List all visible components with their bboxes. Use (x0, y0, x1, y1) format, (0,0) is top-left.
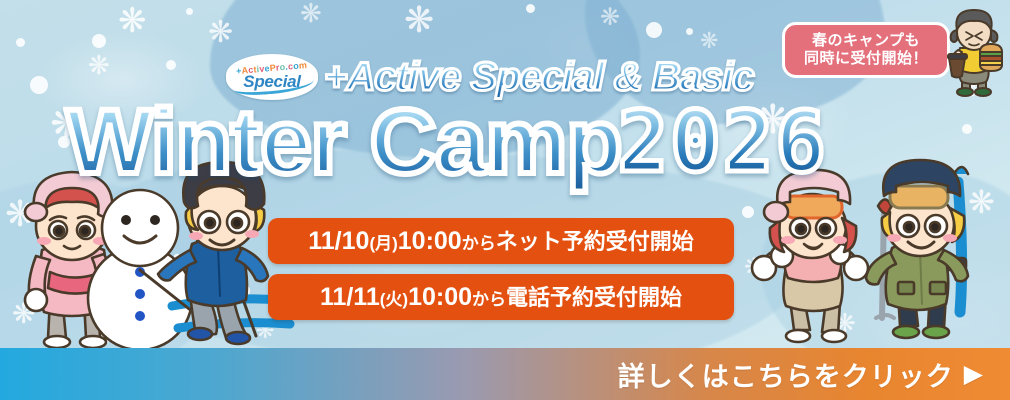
date-bars: 11/10(月)10:00からネット予約受付開始 11/11(火)10:00から… (268, 218, 734, 330)
snowflake-icon: ❋ (92, 326, 112, 350)
date-bar-net-reservation[interactable]: 11/10(月)10:00からネット予約受付開始 (268, 218, 734, 264)
burger-mascot (944, 4, 1004, 100)
snowflake-icon: ❋ (834, 310, 856, 336)
date-bar-text: 11/11(火)10:00から電話予約受付開始 (320, 285, 682, 310)
snow-dot (166, 60, 176, 70)
snow-dot (686, 28, 693, 35)
snow-dot (526, 4, 535, 13)
snow-dot (16, 38, 25, 47)
snow-dot (962, 124, 972, 134)
boy-green-jacket-skis (866, 160, 968, 338)
snow-dot (186, 8, 193, 15)
snowflake-icon: ❋ (150, 216, 172, 242)
connector-text: から (472, 290, 506, 309)
snow-dot (92, 34, 106, 48)
cta-label: 詳しくはこちらをクリック (618, 355, 954, 394)
bubble-line-2: 同時に受付開始！ (804, 50, 928, 68)
connector-text: から (462, 234, 496, 253)
snowflake-icon: ❋ (12, 300, 35, 328)
bubble-line-1: 春のキャンプも (812, 32, 920, 50)
snowflake-icon: ❋ (700, 30, 718, 52)
date-value: 11/11 (320, 283, 380, 311)
date-value: 11/10 (308, 227, 369, 255)
date-bar-phone-reservation[interactable]: 11/11(火)10:00から電話予約受付開始 (268, 274, 734, 320)
snow-dot (742, 206, 754, 218)
snow-dot (236, 284, 250, 298)
girl-goggles-snowballs (752, 170, 868, 342)
snow-dot (248, 196, 256, 204)
snowflake-icon: ❋ (600, 6, 620, 30)
cta-text-group: 詳しくはこちらをクリック ▶ (618, 355, 984, 394)
title-year: 2026 (618, 100, 828, 184)
snowflake-icon: ❋ (88, 52, 110, 78)
snowflake-icon: ❋ (118, 4, 147, 38)
snow-dot (646, 22, 662, 38)
snowman (88, 190, 192, 350)
girl-pink-coat (25, 172, 115, 348)
snow-dot (910, 214, 919, 223)
arrow-right-icon: ▶ (964, 362, 984, 387)
time-value: 10:00 (408, 283, 472, 311)
winter-camp-banner[interactable]: ❋ ❋ ❋ ❋ ❋ ❋ ❋ ❋ ❋ ❋ ❋ ❋ ❋ ❋ ❋ ❋ ❋ ❋ ❋ ❋ (0, 0, 1010, 400)
snow-dot (880, 286, 888, 294)
spring-camp-notice-bubble[interactable]: 春のキャンプも 同時に受付開始！ (782, 22, 950, 78)
snowflake-icon: ❋ (404, 2, 434, 38)
snowflake-icon: ❋ (5, 196, 35, 232)
snowflake-icon: ❋ (930, 320, 948, 342)
snowflake-icon: ❋ (208, 18, 233, 48)
weekday-value: (火) (380, 290, 408, 309)
snowflake-icon: ❋ (300, 0, 322, 26)
time-value: 10:00 (398, 227, 462, 255)
snow-dot (30, 76, 48, 94)
cta-bar[interactable]: 詳しくはこちらをクリック ▶ (0, 348, 1010, 400)
snowflake-icon: ❋ (968, 186, 995, 218)
weekday-value: (月) (369, 234, 397, 253)
action-text: 電話予約受付開始 (506, 285, 682, 310)
snowflake-icon: ❋ (150, 246, 185, 288)
snowflake-icon: ❋ (744, 256, 764, 280)
title-winter-camp: Winter Camp (66, 96, 622, 188)
action-text: ネット予約受付開始 (496, 229, 694, 254)
date-bar-text: 11/10(月)10:00からネット予約受付開始 (308, 229, 693, 254)
main-title-row: Winter Camp 2026 (66, 96, 828, 188)
